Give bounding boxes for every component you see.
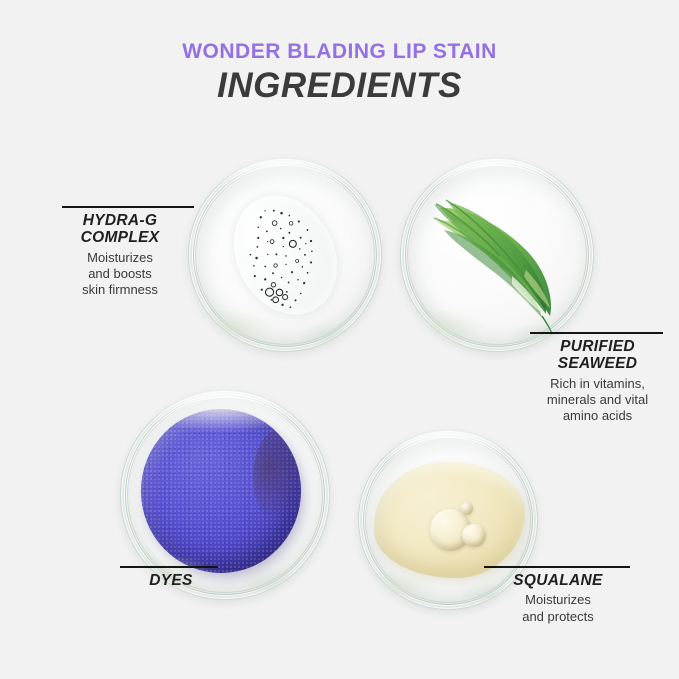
callout-description: Moisturizes and protects — [484, 592, 632, 625]
oil-droplet-medium — [462, 524, 485, 547]
callout-title-line-2: COMPLEX — [81, 229, 160, 246]
page-title: INGREDIENTS — [0, 68, 679, 105]
callout-description-line-1: Moisturizes — [87, 250, 153, 265]
gel-blob-graphic — [214, 178, 357, 333]
callout-dyes: DYES — [106, 566, 236, 592]
product-kicker: WONDER BLADING LIP STAIN — [0, 40, 679, 63]
callout-description-line-3: skin firmness — [82, 282, 158, 297]
callout-description-line-2: and boosts — [88, 266, 152, 281]
petri-dish-hydra-g-complex — [188, 158, 382, 352]
callout-title-line-1: DYES — [149, 572, 192, 589]
callout-leader-line — [62, 206, 194, 208]
page-title-block: WONDER BLADING LIP STAIN INGREDIENTS — [0, 40, 679, 105]
callout-squalane: SQUALANE Moisturizes and protects — [484, 566, 632, 625]
callout-title-line-2: SEAWEED — [558, 355, 638, 372]
callout-description-line-3: amino acids — [563, 408, 632, 423]
callout-description-line-1: Moisturizes — [525, 592, 591, 607]
callout-description: Moisturizes and boosts skin firmness — [46, 250, 194, 299]
seaweed-graphic — [400, 158, 594, 352]
callout-description-line-2: and protects — [522, 609, 594, 624]
callout-title-line-1: HYDRA-G — [83, 212, 157, 229]
callout-leader-line — [120, 566, 218, 568]
callout-title-line-1: SQUALANE — [513, 572, 602, 589]
callout-leader-line — [530, 332, 663, 334]
callout-title-line-1: PURIFIED — [560, 338, 635, 355]
callout-title: HYDRA-G COMPLEX — [46, 212, 194, 247]
callout-leader-line — [484, 566, 630, 568]
callout-description: Rich in vitamins, minerals and vital ami… — [530, 376, 665, 425]
powder-shadow-edge — [253, 429, 301, 524]
callout-purified-seaweed: PURIFIED SEAWEED Rich in vitamins, miner… — [530, 332, 665, 424]
callout-title: SQUALANE — [484, 572, 632, 589]
infographic-canvas: WONDER BLADING LIP STAIN INGREDIENTS — [0, 0, 679, 679]
blue-powder-graphic — [141, 409, 301, 573]
callout-title: DYES — [106, 572, 236, 589]
petri-dish-purified-seaweed — [400, 158, 594, 352]
callout-description-line-1: Rich in vitamins, — [550, 376, 645, 391]
callout-description-line-2: minerals and vital — [547, 392, 648, 407]
callout-title: PURIFIED SEAWEED — [530, 338, 665, 373]
oil-droplet-small — [461, 502, 474, 515]
callout-hydra-g-complex: HYDRA-G COMPLEX Moisturizes and boosts s… — [46, 206, 194, 298]
